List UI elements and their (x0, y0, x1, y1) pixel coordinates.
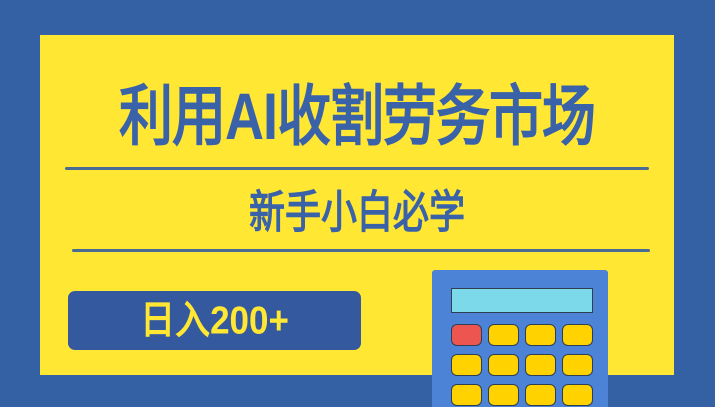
calculator-key-r3c4 (562, 384, 593, 406)
calculator-key-r1c2 (488, 324, 519, 346)
calculator-key-r3c3 (525, 384, 556, 406)
calculator-keypad (451, 324, 595, 407)
divider-bottom (72, 249, 650, 252)
calculator-key-r3c1 (451, 384, 482, 406)
page-title: 利用AI收割劳务市场 (40, 84, 674, 150)
promo-poster: 利用AI收割劳务市场 新手小白必学 日入200+ (0, 0, 715, 407)
calculator-key-r1c1 (451, 324, 482, 346)
calculator-key-r1c3 (525, 324, 556, 346)
calculator-key-r2c3 (525, 354, 556, 376)
page-subtitle: 新手小白必学 (40, 190, 674, 235)
status-badge: 日入200+ (68, 291, 361, 350)
calculator-icon (432, 270, 608, 407)
calculator-key-r2c1 (451, 354, 482, 376)
calculator-screen (451, 288, 593, 313)
divider-top (65, 167, 649, 170)
calculator-key-r2c2 (488, 354, 519, 376)
status-badge-label: 日入200+ (140, 301, 289, 340)
calculator-key-r2c4 (562, 354, 593, 376)
calculator-key-r1c4 (562, 324, 593, 346)
calculator-key-r3c2 (488, 384, 519, 406)
